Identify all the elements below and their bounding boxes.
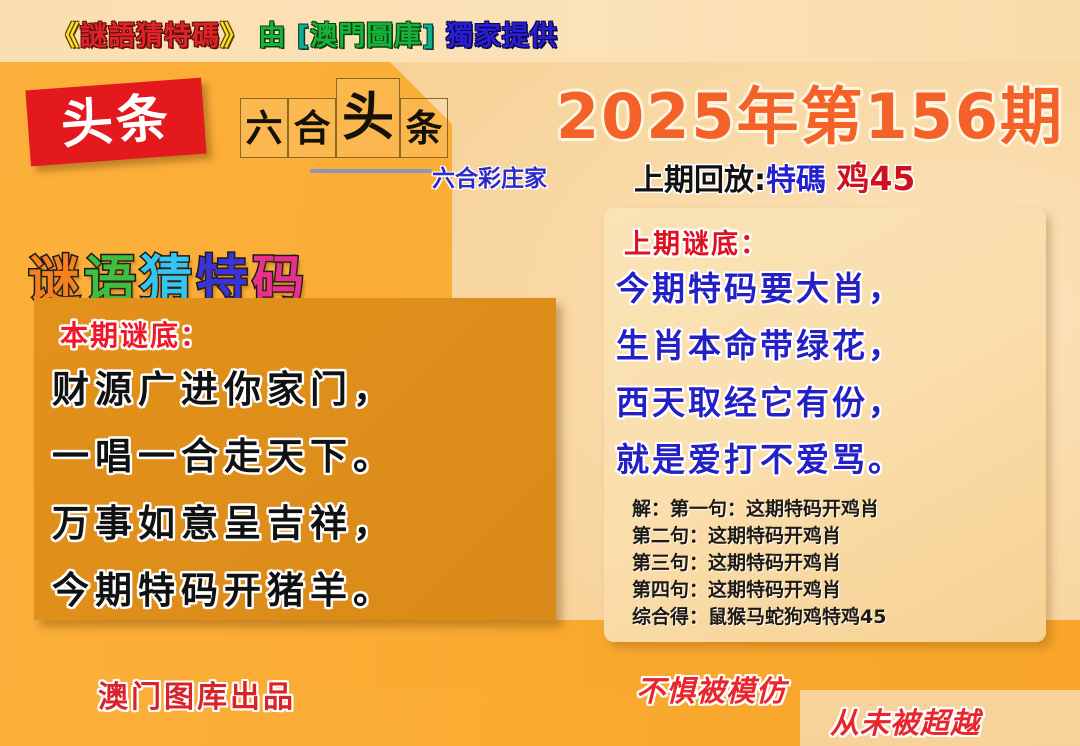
recap-key: 特碼 [766,163,826,198]
header-open-bracket: 《 [52,21,80,52]
toutiao-logo-tag: 头条 [25,78,206,167]
footer-tagline-1: 不惧被模仿 [636,668,786,710]
previous-line-1: 今期特码要大肖， [616,260,1040,317]
header-exclusive: 獨家提供 [446,21,558,52]
current-line-2: 一唱一合走天下。 [52,423,546,490]
poster-root: 《謎語猜特碼》 由 [澳門圖庫] 獨家提供 头条 六 合 头 条 六合彩庄家 2… [0,0,1080,746]
current-line-1: 财源广进你家门， [52,356,546,423]
slogan-rule [310,169,432,173]
footer-tagline-2: 从未被超越 [830,700,980,742]
previous-answer-card: 上期谜底： 今期特码要大肖， 生肖本命带绿花， 西天取经它有份， 就是爱打不爱骂… [604,208,1046,642]
note-line-3: 第三句：这期特码开鸡肖 [632,550,1036,577]
toutiao-logo-text: 头条 [59,92,173,152]
header-title: 謎語猜特碼 [80,21,220,52]
boxed-brand-row: 六 合 头 条 [240,78,448,158]
header-source: 澳門圖庫 [310,21,422,52]
header-ribbon: 《謎語猜特碼》 由 [澳門圖庫] 獨家提供 [0,14,1080,53]
previous-answer-lines: 今期特码要大肖， 生肖本命带绿花， 西天取经它有份， 就是爱打不爱骂。 [616,260,1040,488]
previous-line-4: 就是爱打不爱骂。 [616,431,1040,488]
boxed-char-2: 合 [288,98,336,158]
current-riddle-lines: 财源广进你家门， 一唱一合走天下。 万事如意呈吉祥， 今期特码开猪羊。 [52,356,546,624]
recap-label: 上期回放: [634,163,766,198]
header-left-bracket: [ [297,21,310,52]
header-by: 由 [258,21,286,52]
header-close-bracket: 》 [220,21,248,52]
current-line-3: 万事如意呈吉祥， [52,490,546,557]
boxed-char-1: 六 [240,98,288,158]
boxed-char-3: 头 [336,78,400,158]
current-riddle-card: 本期谜底： 财源广进你家门， 一唱一合走天下。 万事如意呈吉祥， 今期特码开猪羊… [34,298,556,620]
last-issue-recap: 上期回放:特碼 鸡45 [634,152,915,200]
header-right-bracket: ] [422,21,435,52]
previous-line-2: 生肖本命带绿花， [616,317,1040,374]
footer-producer: 澳门图库出品 [98,672,296,716]
previous-answer-notes: 解：第一句：这期特码开鸡肖 第二句：这期特码开鸡肖 第三句：这期特码开鸡肖 第四… [632,496,1036,631]
issue-title: 2025年第156期 [556,66,1064,156]
note-line-2: 第二句：这期特码开鸡肖 [632,523,1036,550]
note-line-4: 第四句：这期特码开鸡肖 [632,577,1036,604]
previous-answer-label: 上期谜底： [624,222,769,261]
note-line-5: 综合得：鼠猴马蛇狗鸡特鸡45 [632,604,1036,631]
current-line-4: 今期特码开猪羊。 [52,557,546,624]
note-line-1: 解：第一句：这期特码开鸡肖 [632,496,1036,523]
brand-slogan: 六合彩庄家 [432,159,547,193]
previous-line-3: 西天取经它有份， [616,374,1040,431]
recap-value: 鸡45 [836,159,915,198]
current-riddle-label: 本期谜底： [60,314,210,354]
boxed-char-4: 条 [400,98,448,158]
